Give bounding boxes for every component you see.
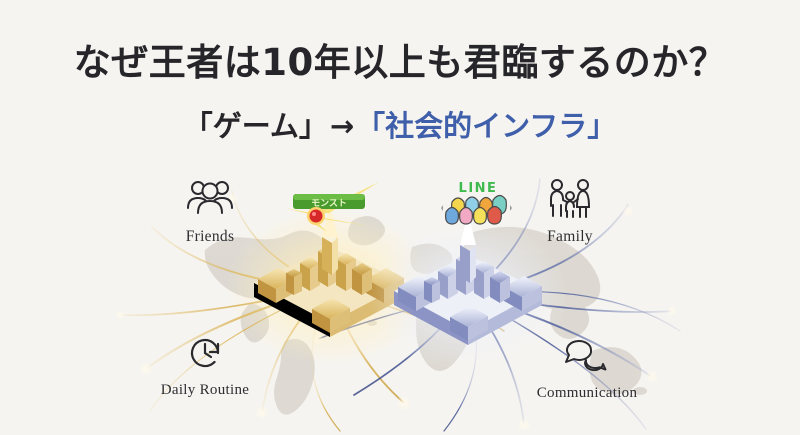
three-people-icon <box>184 176 236 222</box>
illustration-stage <box>0 155 800 435</box>
clock-refresh-icon <box>179 330 231 376</box>
line-wordmark: LINE <box>459 181 498 196</box>
monster-strike-logo: モンスト <box>283 182 379 232</box>
slide-canvas: なぜ王者は10年以上も君臨するのか？ 「ゲーム」→「社会的インフラ」 <box>0 0 800 435</box>
arrow-icon: → <box>328 109 356 143</box>
node-label-daily-routine: Daily Routine <box>161 382 249 399</box>
node-friends: Friends <box>135 176 285 246</box>
page-title: なぜ王者は10年以上も君臨するのか？ <box>0 32 800 86</box>
subtitle-from: 「ゲーム」 <box>184 109 328 143</box>
speech-bubbles-icon <box>561 333 613 379</box>
node-daily-routine: Daily Routine <box>130 330 280 399</box>
node-label-family: Family <box>547 228 593 246</box>
node-label-friends: Friends <box>186 228 235 246</box>
node-communication: Communication <box>512 333 662 402</box>
node-label-communication: Communication <box>537 385 638 402</box>
line-logo: LINE <box>432 178 524 230</box>
isometric-cities <box>0 155 800 435</box>
subtitle: 「ゲーム」→「社会的インフラ」 <box>0 103 800 145</box>
subtitle-to: 「社会的インフラ」 <box>356 109 616 143</box>
family-icon <box>544 176 596 222</box>
